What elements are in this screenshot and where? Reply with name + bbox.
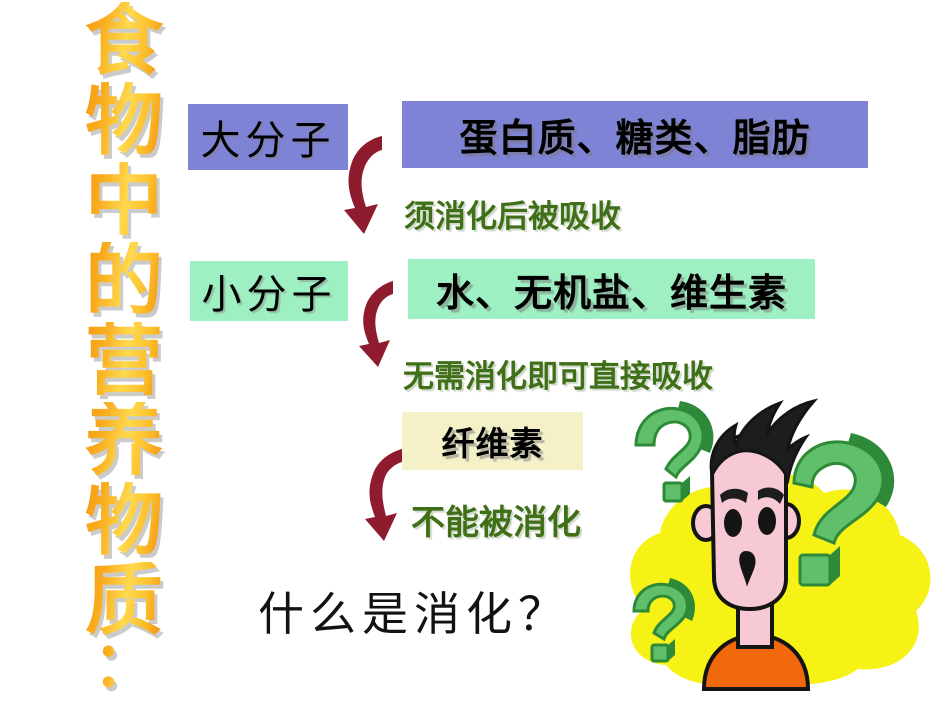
title-char-5: 营 <box>85 322 163 400</box>
title-char-3: 中 <box>85 162 163 240</box>
curved-arrow-1 <box>338 130 410 242</box>
question-mark-icon-1 <box>636 401 713 501</box>
category-label-micromolecule: 小分子 <box>202 262 337 320</box>
title-char-1: 食 <box>85 2 163 80</box>
items-box-fiber: 纤维素 <box>402 412 583 470</box>
slide-canvas: 食 物 中 的 营 养 物 质 ： 大分子 蛋白质、糖类、脂肪 须消化后被吸收 … <box>0 0 950 713</box>
items-box-macromolecule: 蛋白质、糖类、脂肪 <box>402 101 868 168</box>
note-fiber: 不能被消化 <box>411 495 581 544</box>
title-char-7: 物 <box>85 482 163 560</box>
confused-boy-clipart <box>608 383 950 713</box>
question-text: 什么是消化？ <box>258 578 570 644</box>
note-macromolecule: 须消化后被吸收 <box>404 191 621 236</box>
category-box-macromolecule: 大分子 <box>188 104 348 170</box>
page-title: 食 物 中 的 营 养 物 质 ： <box>68 2 180 708</box>
title-char-6: 养 <box>85 402 163 480</box>
category-label-macromolecule: 大分子 <box>201 108 336 166</box>
title-char-9: ： <box>93 642 155 688</box>
items-label-micromolecule: 水、无机盐、维生素 <box>436 262 787 317</box>
items-label-macromolecule: 蛋白质、糖类、脂肪 <box>459 107 810 162</box>
category-box-micromolecule: 小分子 <box>190 261 348 321</box>
title-char-4: 的 <box>85 242 163 320</box>
title-char-2: 物 <box>85 82 163 160</box>
items-box-micromolecule: 水、无机盐、维生素 <box>408 259 815 319</box>
items-label-fiber: 纤维素 <box>442 417 544 465</box>
